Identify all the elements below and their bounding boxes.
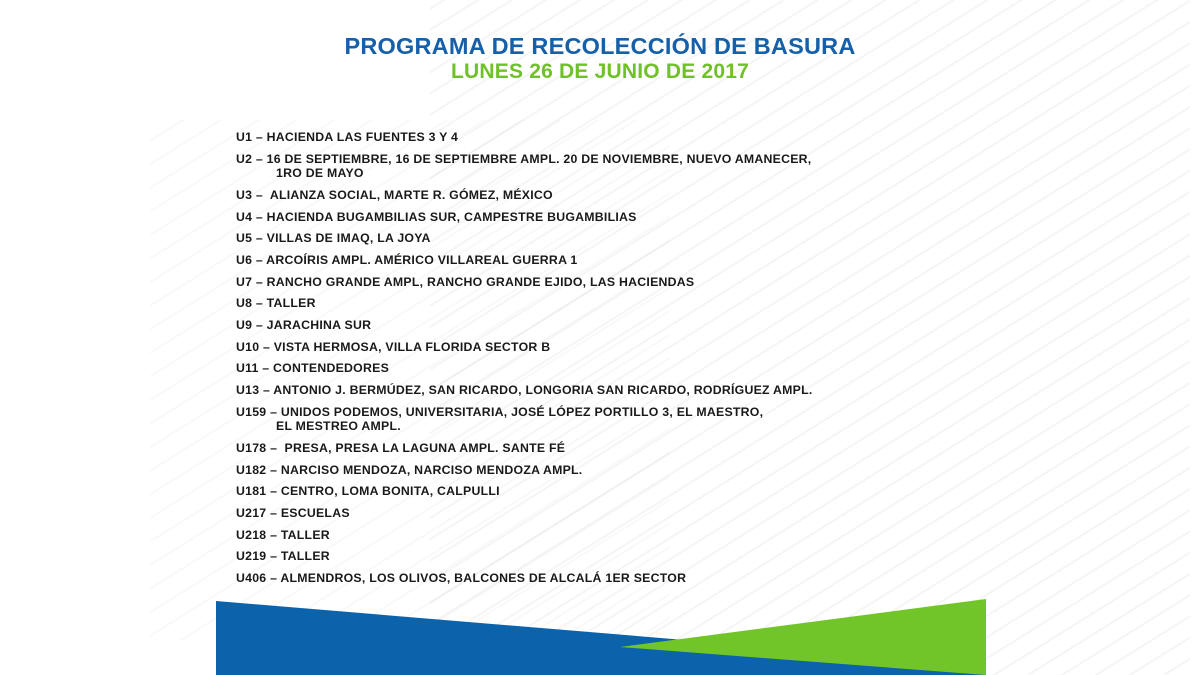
route-item: U5 – VILLAS DE IMAQ, LA JOYA — [236, 231, 996, 246]
route-item: U1 – HACIENDA LAS FUENTES 3 Y 4 — [236, 130, 996, 145]
poster-header: PROGRAMA DE RECOLECCIÓN DE BASURA LUNES … — [0, 33, 1200, 84]
route-item: U7 – RANCHO GRANDE AMPL, RANCHO GRANDE E… — [236, 275, 996, 290]
route-item-text: U13 – ANTONIO J. BERMÚDEZ, SAN RICARDO, … — [236, 383, 813, 397]
route-item: U10 – VISTA HERMOSA, VILLA FLORIDA SECTO… — [236, 340, 996, 355]
route-item: U218 – TALLER — [236, 528, 996, 543]
route-item-text: U5 – VILLAS DE IMAQ, LA JOYA — [236, 231, 431, 245]
route-item: U8 – TALLER — [236, 296, 996, 311]
route-item-text: U218 – TALLER — [236, 528, 330, 542]
route-item: U2 – 16 DE SEPTIEMBRE, 16 DE SEPTIEMBRE … — [236, 152, 996, 181]
poster-root: PROGRAMA DE RECOLECCIÓN DE BASURA LUNES … — [0, 0, 1200, 675]
route-item-text: U4 – HACIENDA BUGAMBILIAS SUR, CAMPESTRE… — [236, 210, 637, 224]
route-item-text: U9 – JARACHINA SUR — [236, 318, 371, 332]
route-item: U4 – HACIENDA BUGAMBILIAS SUR, CAMPESTRE… — [236, 210, 996, 225]
blue-triangle-shape — [216, 601, 986, 675]
page-subtitle-date: LUNES 26 DE JUNIO DE 2017 — [0, 60, 1200, 84]
route-item-text: U7 – RANCHO GRANDE AMPL, RANCHO GRANDE E… — [236, 275, 694, 289]
route-item: U6 – ARCOÍRIS AMPL. AMÉRICO VILLAREAL GU… — [236, 253, 996, 268]
route-item-text: U219 – TALLER — [236, 549, 330, 563]
route-item-text: U8 – TALLER — [236, 296, 316, 310]
route-item-text: U159 – UNIDOS PODEMOS, UNIVERSITARIA, JO… — [236, 405, 763, 419]
route-item-text: U6 – ARCOÍRIS AMPL. AMÉRICO VILLAREAL GU… — [236, 253, 578, 267]
route-item-text: U178 – PRESA, PRESA LA LAGUNA AMPL. SANT… — [236, 441, 565, 455]
route-item-text: U10 – VISTA HERMOSA, VILLA FLORIDA SECTO… — [236, 340, 550, 354]
page-title: PROGRAMA DE RECOLECCIÓN DE BASURA — [0, 33, 1200, 59]
route-item-text: U406 – ALMENDROS, LOS OLIVOS, BALCONES D… — [236, 571, 686, 585]
route-item-text: U3 – ALIANZA SOCIAL, MARTE R. GÓMEZ, MÉX… — [236, 188, 553, 202]
route-item-text: U217 – ESCUELAS — [236, 506, 350, 520]
route-item: U3 – ALIANZA SOCIAL, MARTE R. GÓMEZ, MÉX… — [236, 188, 996, 203]
route-item-text: U11 – CONTENDEDORES — [236, 361, 389, 375]
route-item: U217 – ESCUELAS — [236, 506, 996, 521]
route-item-text: U182 – NARCISO MENDOZA, NARCISO MENDOZA … — [236, 463, 582, 477]
route-item: U9 – JARACHINA SUR — [236, 318, 996, 333]
route-item: U219 – TALLER — [236, 549, 996, 564]
route-item-text: U1 – HACIENDA LAS FUENTES 3 Y 4 — [236, 130, 458, 144]
slide-canvas: PROGRAMA DE RECOLECCIÓN DE BASURA LUNES … — [0, 0, 1200, 675]
route-item: U181 – CENTRO, LOMA BONITA, CALPULLI — [236, 484, 996, 499]
route-item-text-continued: EL MESTREO AMPL. — [236, 419, 996, 434]
route-item-text: U181 – CENTRO, LOMA BONITA, CALPULLI — [236, 484, 500, 498]
route-item: U13 – ANTONIO J. BERMÚDEZ, SAN RICARDO, … — [236, 383, 996, 398]
green-wedge-shape — [620, 599, 986, 675]
route-item: U159 – UNIDOS PODEMOS, UNIVERSITARIA, JO… — [236, 405, 996, 434]
route-item: U11 – CONTENDEDORES — [236, 361, 996, 376]
route-item: U406 – ALMENDROS, LOS OLIVOS, BALCONES D… — [236, 571, 996, 586]
route-item-text: U2 – 16 DE SEPTIEMBRE, 16 DE SEPTIEMBRE … — [236, 152, 811, 166]
route-item-text-continued: 1RO DE MAYO — [236, 166, 996, 181]
route-list: U1 – HACIENDA LAS FUENTES 3 Y 4U2 – 16 D… — [236, 130, 996, 593]
route-item: U182 – NARCISO MENDOZA, NARCISO MENDOZA … — [236, 463, 996, 478]
route-item: U178 – PRESA, PRESA LA LAGUNA AMPL. SANT… — [236, 441, 996, 456]
